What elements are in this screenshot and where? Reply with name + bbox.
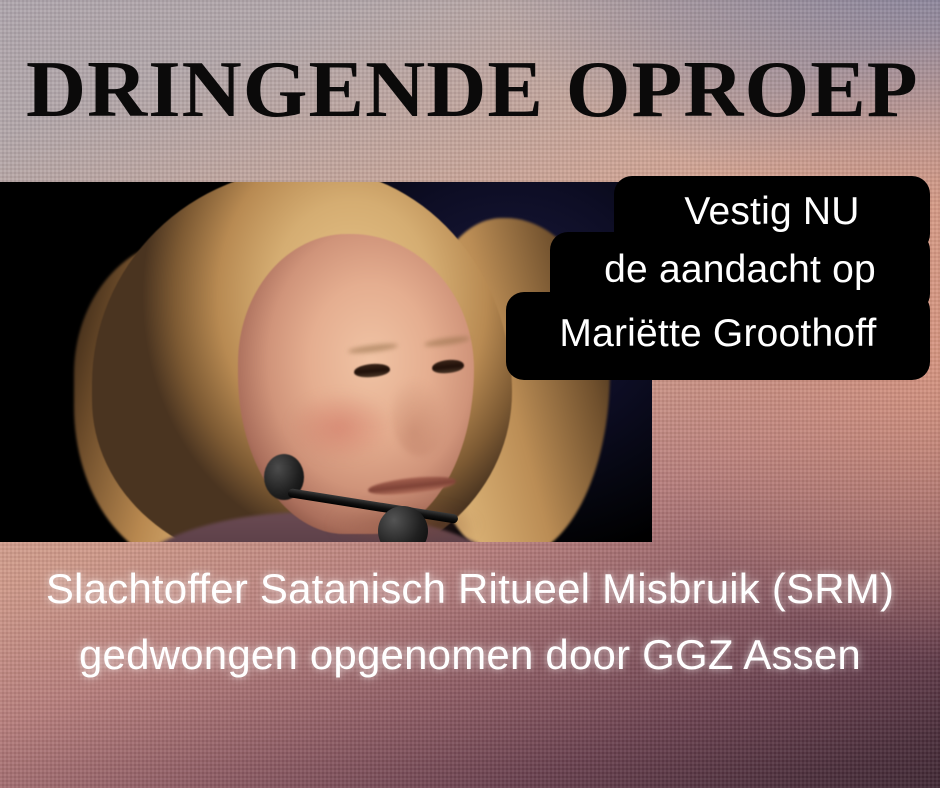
caption-block: Slachtoffer Satanisch Ritueel Misbruik (…	[0, 548, 940, 696]
poster-canvas: DRINGENDE OPROEP !!! Vestig NU de aandac…	[0, 0, 940, 788]
caption-line-2: gedwongen opgenomen door GGZ Assen	[79, 625, 861, 685]
page-title: DRINGENDE OPROEP !!!	[26, 46, 940, 138]
callout-line-1-text: Vestig NU	[684, 190, 859, 234]
callout-banner: Vestig NU de aandacht op Mariëtte Grooth…	[506, 176, 930, 380]
callout-line-3-text: Mariëtte Groothoff	[559, 312, 876, 356]
callout-line-2-text: de aandacht op	[604, 248, 876, 292]
cheek-blush	[288, 392, 392, 462]
callout-line-3: Mariëtte Groothoff	[506, 292, 930, 380]
caption-line-1: Slachtoffer Satanisch Ritueel Misbruik (…	[46, 559, 894, 619]
nose	[392, 378, 446, 456]
